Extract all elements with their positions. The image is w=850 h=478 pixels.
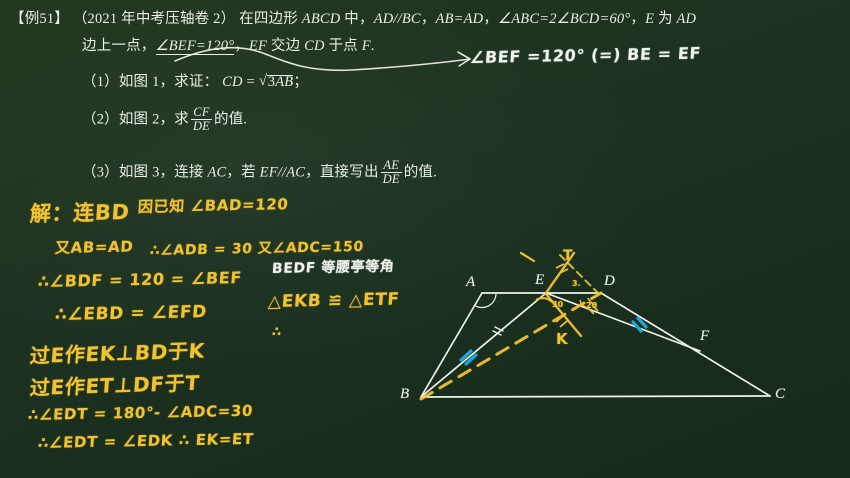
handwritten-line-9: ∴∠EDT = 180°- ∠ADC=30 [27, 402, 253, 424]
handwritten-line-6: ∴∠EBD = ∠EFD [54, 302, 207, 325]
handwritten-mid-note-1: BEDF 等腰亭等角 [271, 256, 395, 278]
handwritten-line-10: ∴∠EDT = ∠EDK ∴ EK=ET [37, 430, 254, 452]
handwritten-line-1: 解：连BD [29, 196, 131, 228]
handwritten-line-8: 过E作ET⊥DF于T [29, 367, 201, 401]
handwritten-line-3: 又AB=AD [54, 235, 134, 257]
handwritten-mid-note-2: △EKB ≌ △ETF [267, 289, 400, 312]
handwritten-white-note: ∠BEF =120° (=) BE = EF [469, 44, 701, 67]
handwritten-line-2: 因已知 ∠BAD=120 [137, 193, 289, 217]
handwritten-mid-note-3: ∴ [271, 325, 282, 340]
handwriting-layer: ∠BEF =120° (=) BE = EF 解：连BD 因已知 ∠BAD=12… [0, 0, 850, 478]
handwritten-line-5: ∴∠BDF = 120 = ∠BEF [37, 268, 242, 291]
handwritten-line-7: 过E作EK⊥BD于K [29, 335, 206, 369]
